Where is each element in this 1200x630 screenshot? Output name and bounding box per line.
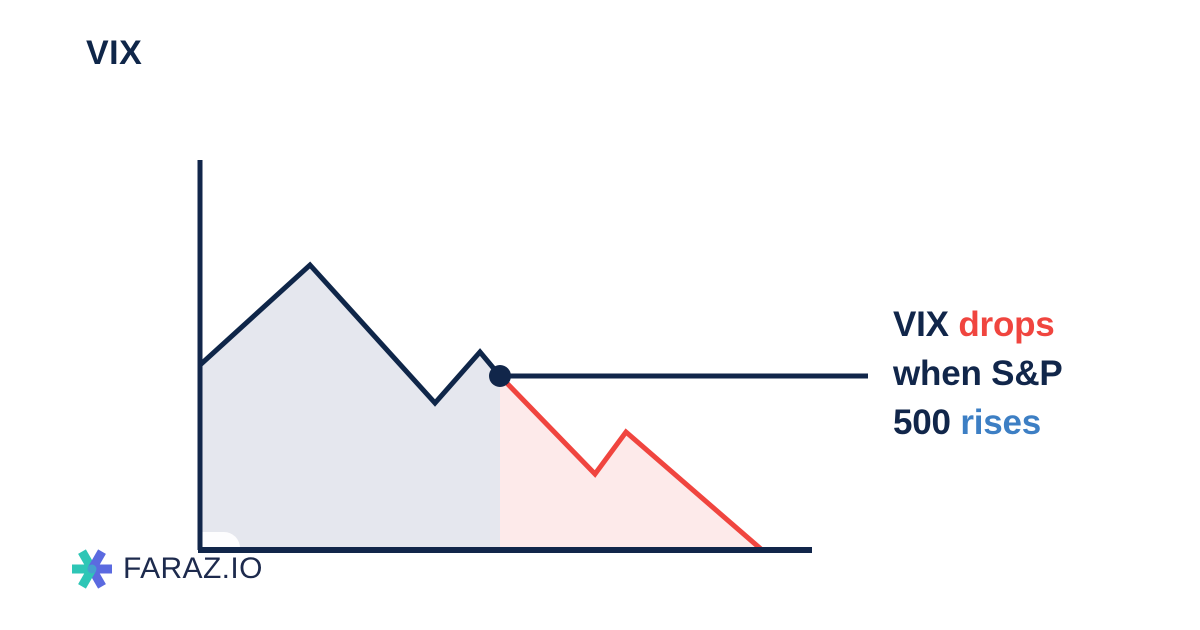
annotation-text-500: 500 <box>893 403 960 442</box>
annotation-line-3: 500 rises <box>893 398 1183 447</box>
annotation-text-vix: VIX <box>893 305 958 344</box>
current-point-marker[interactable] <box>489 365 511 387</box>
brand-name: FARAZ.IO <box>123 554 263 584</box>
annotation-line-2: when S&P <box>893 349 1183 398</box>
brand-logo: FARAZ.IO <box>70 547 263 591</box>
vix-falling-area <box>500 376 762 550</box>
annotation-text-drops: drops <box>958 305 1054 344</box>
annotation-callout: VIX drops when S&P 500 rises <box>893 300 1183 447</box>
annotation-text-rises: rises <box>960 403 1041 442</box>
asterisk-star-icon <box>70 547 114 591</box>
annotation-line-1: VIX drops <box>893 300 1183 349</box>
infographic-canvas: VIX VIX drops when S&P 500 rises <box>0 0 1200 630</box>
